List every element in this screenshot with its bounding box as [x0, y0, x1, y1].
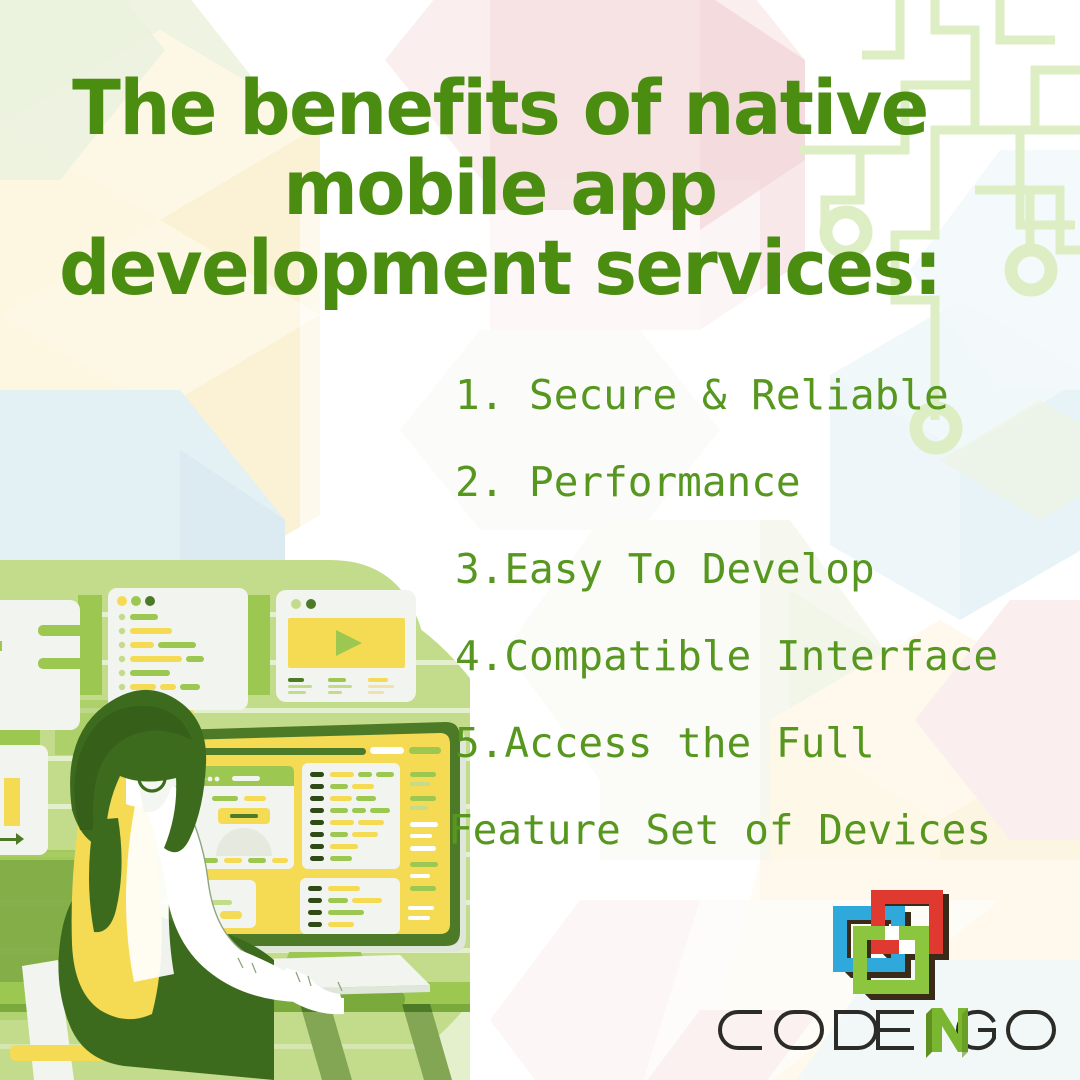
list-item: 2. Performance: [455, 439, 1080, 526]
content-layer: The benefits of native mobile app develo…: [0, 0, 1080, 1080]
brand-wordmark: [718, 1000, 1068, 1062]
codengo-mark-icon: [823, 888, 963, 1006]
title-line-3: development services:: [30, 228, 970, 308]
benefits-list: 1. Secure & Reliable 2. Performance 3.Ea…: [455, 352, 1080, 874]
list-item: 3.Easy To Develop: [455, 526, 1080, 613]
poster-canvas: The benefits of native mobile app develo…: [0, 0, 1080, 1080]
brand-logo[interactable]: [718, 888, 1068, 1073]
list-item: 4.Compatible Interface: [455, 613, 1080, 700]
title-line-1: The benefits of native: [30, 68, 970, 148]
logo-letter-n-accent: [926, 1008, 968, 1058]
title-line-2: mobile app: [30, 148, 970, 228]
list-item-continued: Feature Set of Devices: [448, 787, 1080, 874]
page-title: The benefits of native mobile app develo…: [0, 68, 1000, 308]
list-item: 5.Access the Full: [455, 700, 1080, 787]
list-item: 1. Secure & Reliable: [455, 352, 1080, 439]
